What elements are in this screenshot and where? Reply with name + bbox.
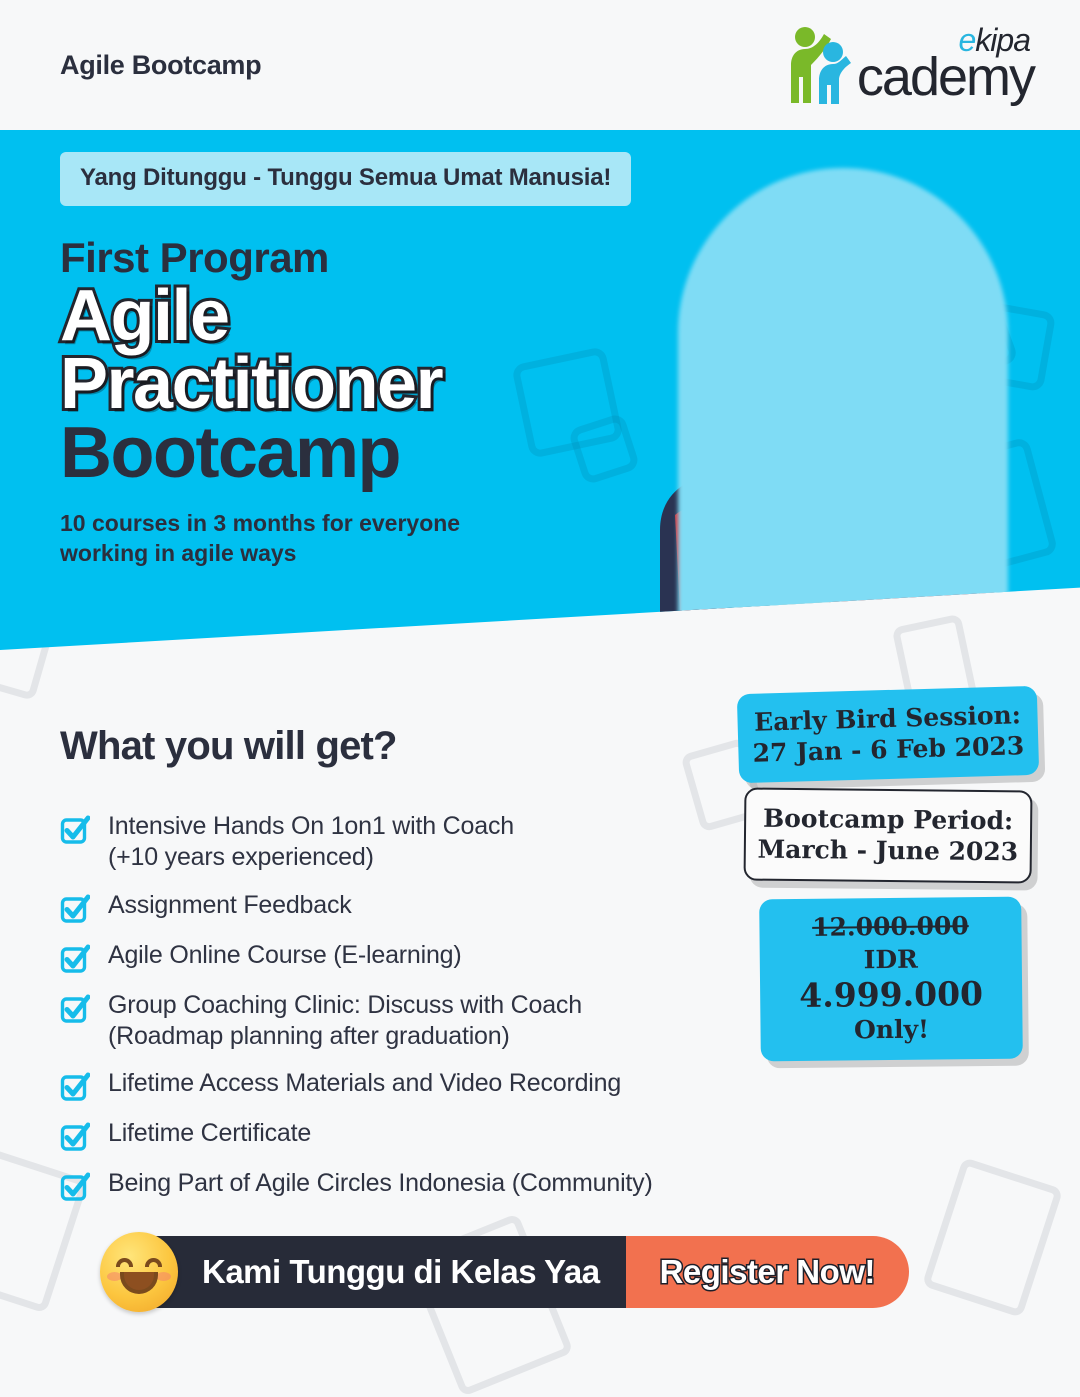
checkbox-checked-icon: [60, 994, 90, 1024]
student-photo: [620, 130, 1080, 650]
benefit-label: Agile Online Course (E-learning): [108, 940, 462, 971]
price-note: Only!: [770, 1014, 1012, 1047]
benefit-item: Lifetime Certificate: [60, 1118, 760, 1152]
register-button-label: Register Now!: [660, 1253, 875, 1291]
hero-title-line-1: Agile: [60, 282, 620, 350]
cta-message-bar: Kami Tunggu di Kelas Yaa: [146, 1236, 626, 1308]
page-header: Agile Bootcamp ekipa cademy: [0, 0, 1080, 130]
benefit-label: Lifetime Certificate: [108, 1118, 311, 1149]
hero-section: Yang Ditunggu - Tunggu Semua Umat Manusi…: [0, 130, 1080, 650]
benefit-item: Lifetime Access Materials and Video Reco…: [60, 1068, 760, 1102]
photo-glow-outline: [678, 168, 1008, 650]
benefit-label: Intensive Hands On 1on1 with Coach(+10 y…: [108, 811, 514, 874]
hero-eyebrow: First Program: [60, 234, 620, 282]
early-bird-card: Early Bird Session: 27 Jan - 6 Feb 2023: [737, 686, 1039, 783]
two-people-figures-icon: [783, 25, 861, 105]
benefit-label: Being Part of Agile Circles Indonesia (C…: [108, 1168, 653, 1199]
logo-ekipa-text: ekipa: [959, 24, 1031, 56]
checkbox-checked-icon: [60, 894, 90, 924]
info-cards: Early Bird Session: 27 Jan - 6 Feb 2023 …: [738, 690, 1038, 1060]
checkbox-checked-icon: [60, 815, 90, 845]
deco-square: [542, 617, 596, 650]
ekipa-academy-logo: ekipa cademy: [783, 25, 1034, 105]
period-dates: March - June 2023: [756, 834, 1020, 867]
period-label: Bootcamp Period:: [756, 804, 1020, 837]
cta-message: Kami Tunggu di Kelas Yaa: [202, 1253, 600, 1291]
benefit-item: Being Part of Agile Circles Indonesia (C…: [60, 1168, 760, 1202]
currency-label: IDR: [864, 944, 918, 974]
hero-subtitle-line-1: 10 courses in 3 months for everyone: [60, 509, 620, 538]
price-card: 12.000.000 IDR 4.999.000 Only!: [759, 897, 1023, 1061]
benefits-list: Intensive Hands On 1on1 with Coach(+10 y…: [60, 811, 760, 1202]
hero-badge: Yang Ditunggu - Tunggu Semua Umat Manusi…: [60, 152, 631, 206]
benefit-item: Intensive Hands On 1on1 with Coach(+10 y…: [60, 811, 760, 874]
bootcamp-period-card: Bootcamp Period: March - June 2023: [744, 787, 1033, 883]
benefit-label: Lifetime Access Materials and Video Reco…: [108, 1068, 621, 1099]
smiling-face-icon: [100, 1232, 178, 1312]
checkbox-checked-icon: [60, 944, 90, 974]
benefit-item: Agile Online Course (E-learning): [60, 940, 760, 974]
benefit-item: Assignment Feedback: [60, 890, 760, 924]
cta-bar: Kami Tunggu di Kelas Yaa Register Now!: [100, 1236, 909, 1308]
hero-title-line-2: Practitioner: [60, 350, 620, 418]
benefit-item: Group Coaching Clinic: Discuss with Coac…: [60, 990, 760, 1053]
checkbox-checked-icon: [60, 1122, 90, 1152]
new-price: 4.999.000: [799, 974, 983, 1015]
hero-title-line-3: Bootcamp: [60, 419, 620, 487]
page-title: Agile Bootcamp: [60, 50, 261, 81]
benefit-label: Group Coaching Clinic: Discuss with Coac…: [108, 990, 582, 1053]
register-now-button[interactable]: Register Now!: [626, 1236, 909, 1308]
benefit-label: Assignment Feedback: [108, 890, 352, 921]
checkbox-checked-icon: [60, 1072, 90, 1102]
hero-subtitle-line-2: working in agile ways: [60, 539, 620, 568]
checkbox-checked-icon: [60, 1172, 90, 1202]
old-price: 12.000.000: [769, 911, 1011, 944]
